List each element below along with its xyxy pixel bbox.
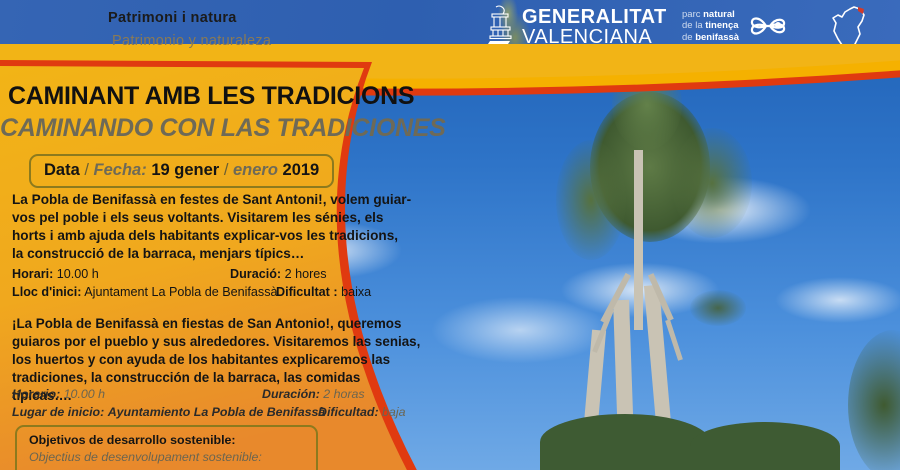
parc-natural-wordmark: parc natural de la tinença de benifassà bbox=[682, 9, 739, 43]
page-title-ca: CAMINANT AMB LES TRADICIONS bbox=[8, 82, 414, 111]
page-title-es: CAMINANDO CON LAS TRADICIONES bbox=[0, 114, 445, 143]
description-ca: La Pobla de Benifassà en festes de Sant … bbox=[12, 191, 412, 263]
generalitat-valenciana-logo: GENERALITAT VALENCIANA bbox=[488, 4, 667, 52]
date-separator-1: / bbox=[84, 161, 89, 179]
location-marker bbox=[858, 7, 864, 14]
difficulty-value-ca: baixa bbox=[341, 285, 371, 299]
butterfly-mark-icon bbox=[748, 9, 788, 43]
difficulty-group-es: Dificultad: baja bbox=[318, 405, 405, 419]
start-label-es: Lugar de inicio: bbox=[12, 405, 104, 419]
start-label-ca: Lloc d'inici: bbox=[12, 285, 81, 299]
date-label-es: Fecha: bbox=[94, 161, 147, 179]
difficulty-label-es: Dificultad: bbox=[318, 405, 379, 419]
date-box: Data / Fecha: 19 gener / enero 2019 bbox=[29, 154, 334, 188]
pn-l1-soft: parc bbox=[682, 9, 703, 20]
difficulty-group-ca: Dificultat : baixa bbox=[276, 285, 371, 299]
poster-content: Patrimoni i natura Patrimonio y naturale… bbox=[0, 0, 470, 470]
schedule-value-ca: 10.00 h bbox=[57, 267, 99, 281]
pn-l1-bold: natural bbox=[703, 9, 735, 20]
gv-line-2: VALENCIANA bbox=[522, 28, 667, 48]
duration-value-ca: 2 hores bbox=[285, 267, 327, 281]
shrub-right bbox=[690, 422, 840, 470]
schedule-row-ca: Horari: 10.00 h Duració: 2 hores bbox=[12, 267, 422, 281]
ods-line-ca: Objectius de desenvolupament sostenible: bbox=[29, 450, 306, 464]
ods-line-es: Objetivos de desarrollo sostenible: bbox=[29, 433, 306, 447]
date-month-ca: gener bbox=[174, 161, 219, 179]
parc-natural-logo: parc natural de la tinença de benifassà bbox=[682, 9, 788, 43]
schedule-row-es: Horario: 10.00 h Duración: 2 horas bbox=[12, 387, 432, 401]
duration-label-es: Duración: bbox=[262, 387, 320, 401]
schedule-value-es: 10.00 h bbox=[64, 387, 105, 401]
pn-l3-bold: benifassà bbox=[695, 32, 739, 43]
difficulty-value-es: baja bbox=[382, 405, 405, 419]
difficulty-label-ca: Dificultat : bbox=[276, 285, 338, 299]
gv-shield-icon bbox=[488, 4, 514, 52]
duration-group-es: Duración: 2 horas bbox=[262, 387, 365, 401]
start-value-es: Ayuntamiento La Pobla de Benifassà bbox=[108, 405, 326, 419]
kicker-ca: Patrimoni i natura bbox=[108, 10, 237, 26]
kicker-es: Patrimonio y naturaleza bbox=[112, 33, 271, 49]
poster-root: GENERALITAT VALENCIANA parc natural de l… bbox=[0, 0, 900, 470]
pn-l3-soft: de bbox=[682, 32, 695, 43]
date-year: 2019 bbox=[283, 161, 320, 179]
duration-label-ca: Duració: bbox=[230, 267, 281, 281]
valencia-map-outline-icon bbox=[820, 3, 884, 65]
date-day: 19 bbox=[151, 161, 169, 179]
date-separator-2: / bbox=[224, 161, 229, 179]
shrub-left bbox=[540, 414, 710, 470]
date-label-ca: Data bbox=[44, 161, 80, 179]
sustainable-goals-box: Objetivos de desarrollo sostenible: Obje… bbox=[15, 425, 318, 470]
schedule-label-es: Horario: bbox=[12, 387, 60, 401]
schedule-label-ca: Horari: bbox=[12, 267, 53, 281]
start-value-ca: Ajuntament La Pobla de Benifassà bbox=[84, 285, 277, 299]
duration-group-ca: Duració: 2 hores bbox=[230, 267, 327, 281]
date-month-es: enero bbox=[233, 161, 278, 179]
pn-l2-bold: tinença bbox=[705, 20, 738, 31]
start-row-es: Lugar de inicio: Ayuntamiento La Pobla d… bbox=[12, 405, 432, 419]
generalitat-wordmark: GENERALITAT VALENCIANA bbox=[522, 8, 667, 47]
pn-l2-soft: de la bbox=[682, 20, 705, 31]
duration-value-es: 2 horas bbox=[323, 387, 364, 401]
start-row-ca: Lloc d'inici: Ajuntament La Pobla de Ben… bbox=[12, 285, 422, 299]
